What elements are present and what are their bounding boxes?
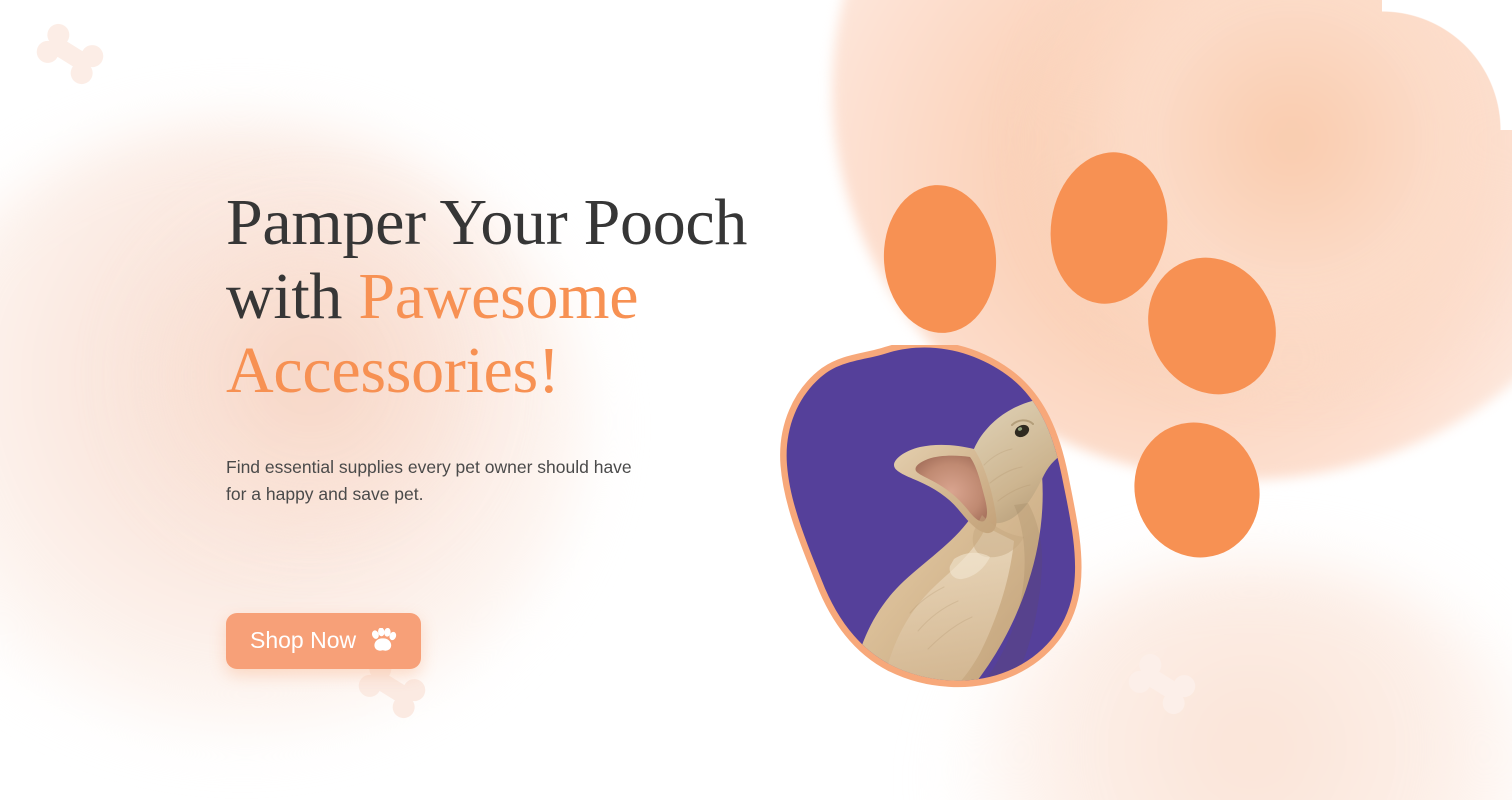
hero-subtitle: Find essential supplies every pet owner … xyxy=(226,454,656,508)
headline-line-1: Pamper Your Pooch xyxy=(226,186,747,259)
paw-icon xyxy=(370,628,397,653)
hero-banner: Pamper Your Pooch with Pawesome Accessor… xyxy=(0,0,1512,800)
paw-toe-4 xyxy=(1117,406,1277,574)
headline-line-3-accent: Accessories! xyxy=(226,334,560,407)
dog-photo-blob xyxy=(778,345,1124,690)
hero-content: Pamper Your Pooch with Pawesome Accessor… xyxy=(226,186,826,408)
headline-line-2-accent: Pawesome xyxy=(358,260,638,333)
shop-now-button[interactable]: Shop Now xyxy=(226,613,421,669)
shop-now-button-label: Shop Now xyxy=(250,627,356,654)
paw-toe-1 xyxy=(879,181,1001,336)
page-title: Pamper Your Pooch with Pawesome Accessor… xyxy=(226,186,826,408)
bone-icon-top-left xyxy=(30,18,110,90)
headline-line-2-plain: with xyxy=(226,260,358,333)
rounded-corner-mask-top-right xyxy=(1382,0,1512,130)
paw-illustration xyxy=(770,140,1310,720)
